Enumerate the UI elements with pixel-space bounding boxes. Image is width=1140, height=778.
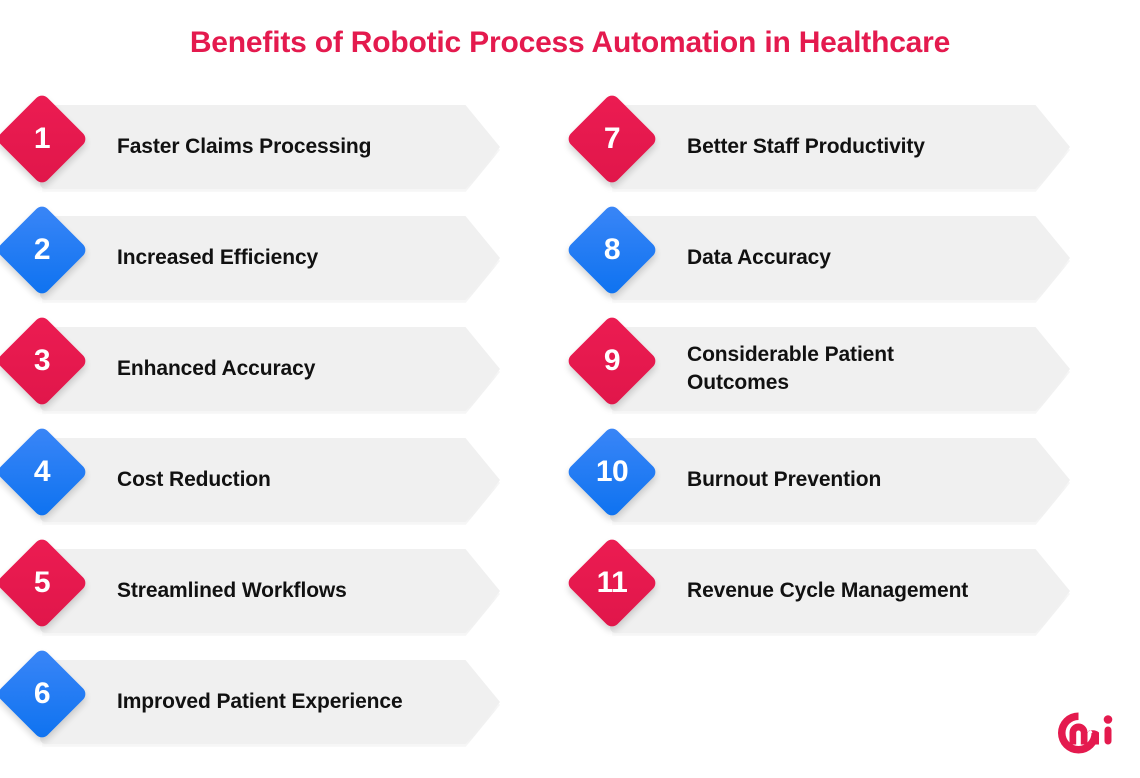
benefit-number: 4: [9, 439, 75, 505]
benefit-number: 9: [579, 328, 645, 394]
benefit-label: Data Accuracy: [687, 216, 987, 300]
benefit-label: Better Staff Productivity: [687, 105, 987, 189]
benefit-number: 3: [9, 328, 75, 394]
benefits-columns: 1Faster Claims Processing2Increased Effi…: [0, 96, 1140, 762]
benefit-label: Streamlined Workflows: [117, 549, 417, 633]
benefit-number: 6: [9, 661, 75, 727]
benefit-row[interactable]: 7Better Staff Productivity: [570, 96, 1140, 207]
benefit-number: 7: [579, 106, 645, 172]
benefit-number: 5: [9, 550, 75, 616]
benefit-row[interactable]: 1Faster Claims Processing: [0, 96, 570, 207]
benefit-number: 2: [9, 217, 75, 283]
benefit-label: Burnout Prevention: [687, 438, 987, 522]
benefit-row[interactable]: 11Revenue Cycle Management: [570, 540, 1140, 651]
benefit-label: Increased Efficiency: [117, 216, 417, 300]
benefit-number: 8: [579, 217, 645, 283]
benefit-row[interactable]: 10Burnout Prevention: [570, 429, 1140, 540]
benefit-number: 1: [9, 106, 75, 172]
benefit-label: Considerable Patient Outcomes: [687, 327, 987, 411]
benefit-row[interactable]: 2Increased Efficiency: [0, 207, 570, 318]
benefit-row[interactable]: 5Streamlined Workflows: [0, 540, 570, 651]
mi-logo: [1056, 710, 1118, 758]
benefit-number: 10: [579, 439, 645, 505]
left-column: 1Faster Claims Processing2Increased Effi…: [0, 96, 570, 762]
benefit-label: Improved Patient Experience: [117, 660, 417, 744]
benefit-label: Enhanced Accuracy: [117, 327, 417, 411]
right-column: 7Better Staff Productivity8Data Accuracy…: [570, 96, 1140, 762]
benefit-row[interactable]: 4Cost Reduction: [0, 429, 570, 540]
benefit-row[interactable]: 6Improved Patient Experience: [0, 651, 570, 762]
benefit-number: 11: [579, 550, 645, 616]
benefit-label: Cost Reduction: [117, 438, 417, 522]
benefit-row[interactable]: 3Enhanced Accuracy: [0, 318, 570, 429]
benefit-label: Revenue Cycle Management: [687, 549, 987, 633]
benefit-row[interactable]: 9Considerable Patient Outcomes: [570, 318, 1140, 429]
page-title: Benefits of Robotic Process Automation i…: [0, 26, 1140, 60]
benefit-row[interactable]: 8Data Accuracy: [570, 207, 1140, 318]
benefit-label: Faster Claims Processing: [117, 105, 417, 189]
